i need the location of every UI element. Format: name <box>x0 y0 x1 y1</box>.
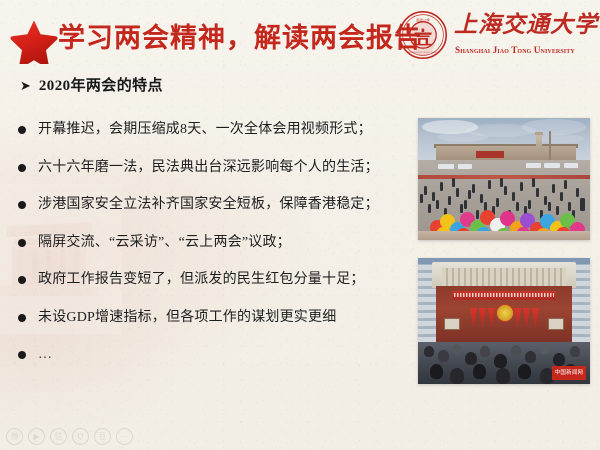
sjtu-seal-icon: 南洋公学 SHANGHAI JIAO TONG <box>398 10 448 60</box>
list-item-label: 开幕推迟，会期压缩成8天、一次全体会用视频形式； <box>38 118 372 142</box>
share-icon-bar[interactable]: 微 ▶ 信 Q 豆 ⋯ <box>6 428 133 445</box>
section-heading-label: 2020年两会的特点 <box>39 76 163 96</box>
list-item: 未设GDP增速指标，但各项工作的谋划更实更细 <box>18 306 408 344</box>
list-item-label: 政府工作报告变短了，但派发的民生红包分量十足； <box>38 268 365 292</box>
list-item: 开幕推迟，会期压缩成8天、一次全体会用视频形式； <box>18 118 408 156</box>
arrow-right-icon: ➤ <box>20 79 31 93</box>
university-name-cn: 上海交通大学 <box>454 10 598 40</box>
section-heading: ➤ 2020年两会的特点 <box>20 76 163 96</box>
bullet-dot-icon <box>18 276 26 284</box>
list-item-label: 未设GDP增速指标，但各项工作的谋划更实更细 <box>38 306 336 330</box>
slide-title: 学习两会精神，解读两会报告 <box>58 20 422 56</box>
bullet-dot-icon <box>18 239 26 247</box>
presentation-slide: 学习两会精神，解读两会报告 南洋公学 SHANGHAI JIAO TONG <box>0 0 600 450</box>
list-item: 涉港国家安全立法补齐国家安全短板，保障香港稳定； <box>18 193 408 231</box>
qq-share-icon[interactable]: Q <box>72 428 89 445</box>
list-item: 六十六年磨一法，民法典出台深远影响每个人的生活； <box>18 156 408 194</box>
list-item-label: 隔屏交流、“云采访”、“云上两会”议政； <box>38 231 291 255</box>
great-hall-session-photo: 中国新闻网 <box>418 258 590 384</box>
tiananmen-square-delegates-photo <box>418 118 590 240</box>
national-emblem-icon <box>496 304 514 322</box>
red-star-icon <box>10 18 58 64</box>
more-share-icon[interactable]: ⋯ <box>116 428 133 445</box>
bullet-dot-icon <box>18 164 26 172</box>
university-logo: 南洋公学 SHANGHAI JIAO TONG 上海交通大学 Shanghai … <box>398 8 594 64</box>
weibo-share-icon[interactable]: 微 <box>6 428 23 445</box>
bullet-dot-icon <box>18 351 26 359</box>
bullet-list: 开幕推迟，会期压缩成8天、一次全体会用视频形式； 六十六年磨一法，民法典出台深远… <box>18 118 408 381</box>
list-item: … <box>18 343 408 381</box>
douban-share-icon[interactable]: 豆 <box>94 428 111 445</box>
bullet-dot-icon <box>18 201 26 209</box>
list-item: 政府工作报告变短了，但派发的民生红包分量十足； <box>18 268 408 306</box>
svg-text:SHANGHAI JIAO TONG: SHANGHAI JIAO TONG <box>408 51 438 54</box>
news-watermark: 中国新闻网 <box>552 366 586 380</box>
list-item: 隔屏交流、“云采访”、“云上两会”议政； <box>18 231 408 269</box>
bullet-dot-icon <box>18 314 26 322</box>
svg-text:南洋公学: 南洋公学 <box>416 17 430 22</box>
list-item-label: 六十六年磨一法，民法典出台深远影响每个人的生活； <box>38 156 379 180</box>
bullet-dot-icon <box>18 126 26 134</box>
university-name-en: Shanghai Jiao Tong University <box>455 44 575 56</box>
list-item-label: … <box>38 343 54 367</box>
play-share-icon[interactable]: ▶ <box>28 428 45 445</box>
slide-header: 学习两会精神，解读两会报告 南洋公学 SHANGHAI JIAO TONG <box>0 0 600 72</box>
session-banner-text <box>454 293 554 297</box>
wechat-share-icon[interactable]: 信 <box>50 428 67 445</box>
list-item-label: 涉港国家安全立法补齐国家安全短板，保障香港稳定； <box>38 193 379 217</box>
